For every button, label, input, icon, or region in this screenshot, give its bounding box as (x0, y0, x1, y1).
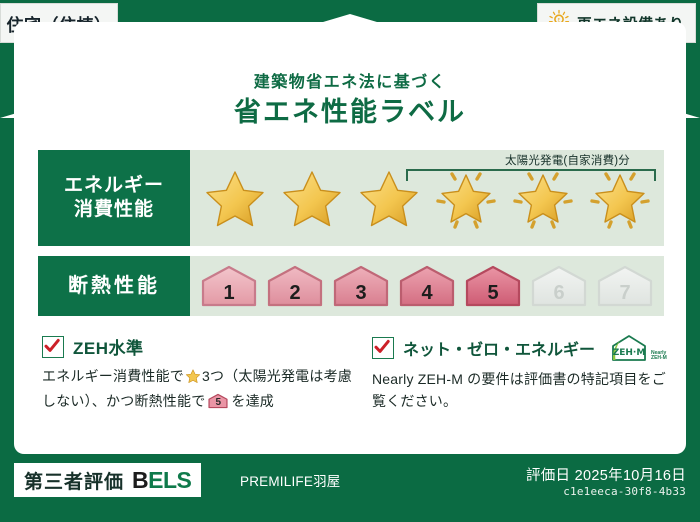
insulation-level-badge: 2 (266, 264, 324, 308)
energy-performance-label: エネルギー 消費性能 (38, 150, 190, 246)
star-rating (190, 150, 664, 246)
energy-stars-panel: 太陽光発電(自家消費)分 (190, 150, 664, 246)
insulation-badge-inline: 5 (208, 393, 228, 409)
net-zero-body: Nearly ZEH-M の要件は評価書の特記項目をご覧ください。 (372, 369, 672, 412)
star-icon (279, 165, 345, 231)
zeh-body-part1: エネルギー消費性能で (42, 368, 184, 384)
energy-label-line1: エネルギー (64, 174, 164, 198)
zeh-standard-body: エネルギー消費性能で3つ（太陽光発電は考慮しない）、かつ断熱性能で5を達成 (42, 366, 354, 412)
zeh-standard-header: ZEH水準 (42, 334, 354, 359)
insulation-level-value: 1 (223, 282, 234, 305)
insulation-badge-inline-value: 5 (208, 393, 228, 409)
insulation-performance-row: 断熱性能 1 (38, 256, 664, 316)
insulation-level-value: 7 (619, 282, 630, 305)
zeh-body-part3: を達成 (231, 393, 274, 409)
insulation-level-value: 2 (289, 282, 300, 305)
document-id: c1e1eeca-30f8-4b33 (563, 485, 686, 498)
star-icon (356, 165, 422, 231)
insulation-level-value: 5 (487, 282, 498, 305)
net-zero-header: ネット・ゼロ・エネルギー ZEH·M Nearly ZEH-M (372, 334, 672, 362)
card-subtitle: 建築物省エネ法に基づく (14, 68, 686, 92)
evaluation-date: 評価日 2025年10月16日 (526, 464, 686, 485)
star-icon (202, 165, 268, 231)
check-icon (42, 336, 64, 358)
insulation-level-value: 4 (421, 282, 432, 305)
insulation-levels-panel: 1 2 3 4 (190, 256, 664, 316)
footer-bar: 第三者評価 B ELS PREMILIFE羽屋 評価日 2025年10月16日 … (0, 454, 700, 522)
insulation-level-badge: 7 (596, 264, 654, 308)
insulation-level-badge: 4 (398, 264, 456, 308)
label-card: 建築物省エネ法に基づく 省エネ性能ラベル エネルギー 消費性能 太陽光発電(自家… (14, 22, 686, 454)
zeh-m-logo-icon: ZEH·M Nearly ZEH-M (609, 334, 667, 362)
zeh-standard-block: ZEH水準 エネルギー消費性能で3つ（太陽光発電は考慮しない）、かつ断熱性能で5… (42, 334, 354, 412)
star-icon-inline (185, 368, 201, 391)
svg-text:ZEH·M: ZEH·M (613, 348, 646, 358)
page-title: 省エネ性能ラベル (14, 90, 686, 129)
check-icon (372, 337, 394, 359)
insulation-level-value: 6 (553, 282, 564, 305)
insulation-label-text: 断熱性能 (68, 274, 160, 299)
insulation-performance-label: 断熱性能 (38, 256, 190, 316)
bels-certification-mark: 第三者評価 B ELS (14, 463, 201, 497)
zeh-m-logo-sub: Nearly ZEH-M (651, 351, 667, 363)
insulation-level-scale: 1 2 3 4 (190, 256, 664, 316)
insulation-level-badge: 3 (332, 264, 390, 308)
star-icon-solar (510, 165, 576, 231)
zeh-standard-title: ZEH水準 (73, 334, 144, 359)
star-icon-solar (587, 165, 653, 231)
insulation-level-badge: 5 (464, 264, 522, 308)
bels-jp-label: 第三者評価 (24, 467, 124, 494)
net-zero-title: ネット・ゼロ・エネルギー (403, 336, 595, 360)
insulation-level-value: 3 (355, 282, 366, 305)
zeh-m-sub-line2: ZEH-M (651, 355, 667, 361)
project-name: PREMILIFE羽屋 (240, 470, 340, 490)
insulation-level-badge: 1 (200, 264, 258, 308)
insulation-level-badge: 6 (530, 264, 588, 308)
net-zero-energy-block: ネット・ゼロ・エネルギー ZEH·M Nearly ZEH-M Nearly Z… (372, 334, 672, 412)
bels-logo-els: ELS (148, 467, 191, 494)
bels-logo-b: B (132, 467, 148, 494)
energy-label-line2: 消費性能 (74, 198, 154, 222)
energy-performance-row: エネルギー 消費性能 太陽光発電(自家消費)分 (38, 150, 664, 246)
bels-label-root: 住宅（住棟） E 再エネ設備あり 建築物省エネ法に基 (0, 0, 700, 522)
star-icon-solar (433, 165, 499, 231)
